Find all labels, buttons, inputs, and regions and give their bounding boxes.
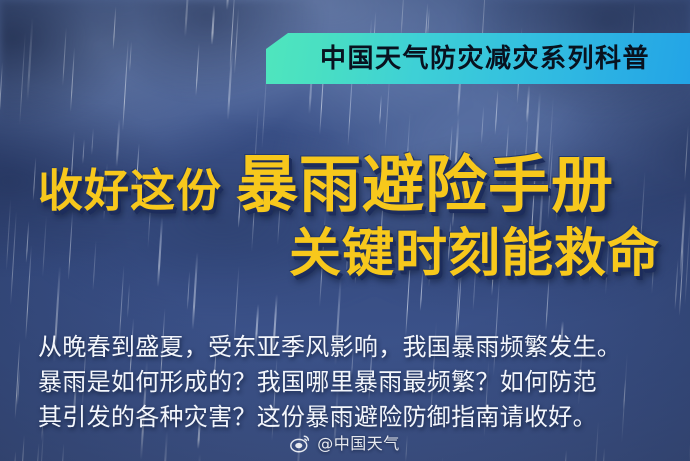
poster-root: 中国天气防灾减灾系列科普 收好这份 暴雨避险手册 关键时刻能救命 从晚春到盛夏，…: [0, 0, 690, 461]
body-line: 暴雨是如何形成的？我国哪里暴雨最频繁？如何防范: [38, 367, 662, 398]
body-line: 从晚春到盛夏，受东亚季风影响，我国暴雨频繁发生。: [38, 332, 662, 363]
headline-title: 暴雨避险手册: [236, 154, 614, 216]
headline-line-2: 关键时刻能救命: [0, 228, 676, 280]
watermark-handle: @中国天气: [317, 436, 400, 452]
weibo-icon: [290, 434, 311, 453]
headline-subtitle: 关键时刻能救命: [289, 228, 660, 280]
headline-block: 收好这份 暴雨避险手册 关键时刻能救命: [0, 140, 676, 280]
body-line: 其引发的各种灾害？这份暴雨避险防御指南请收好。: [38, 402, 662, 433]
headline-line-1: 收好这份 暴雨避险手册: [0, 140, 676, 216]
watermark: @中国天气: [0, 434, 690, 453]
headline-prefix: 收好这份: [38, 168, 222, 216]
series-ribbon-banner: 中国天气防灾减灾系列科普: [266, 33, 690, 84]
series-ribbon-label: 中国天气防灾减灾系列科普: [302, 46, 654, 72]
body-paragraph: 从晚春到盛夏，受东亚季风影响，我国暴雨频繁发生。 暴雨是如何形成的？我国哪里暴雨…: [38, 332, 662, 437]
